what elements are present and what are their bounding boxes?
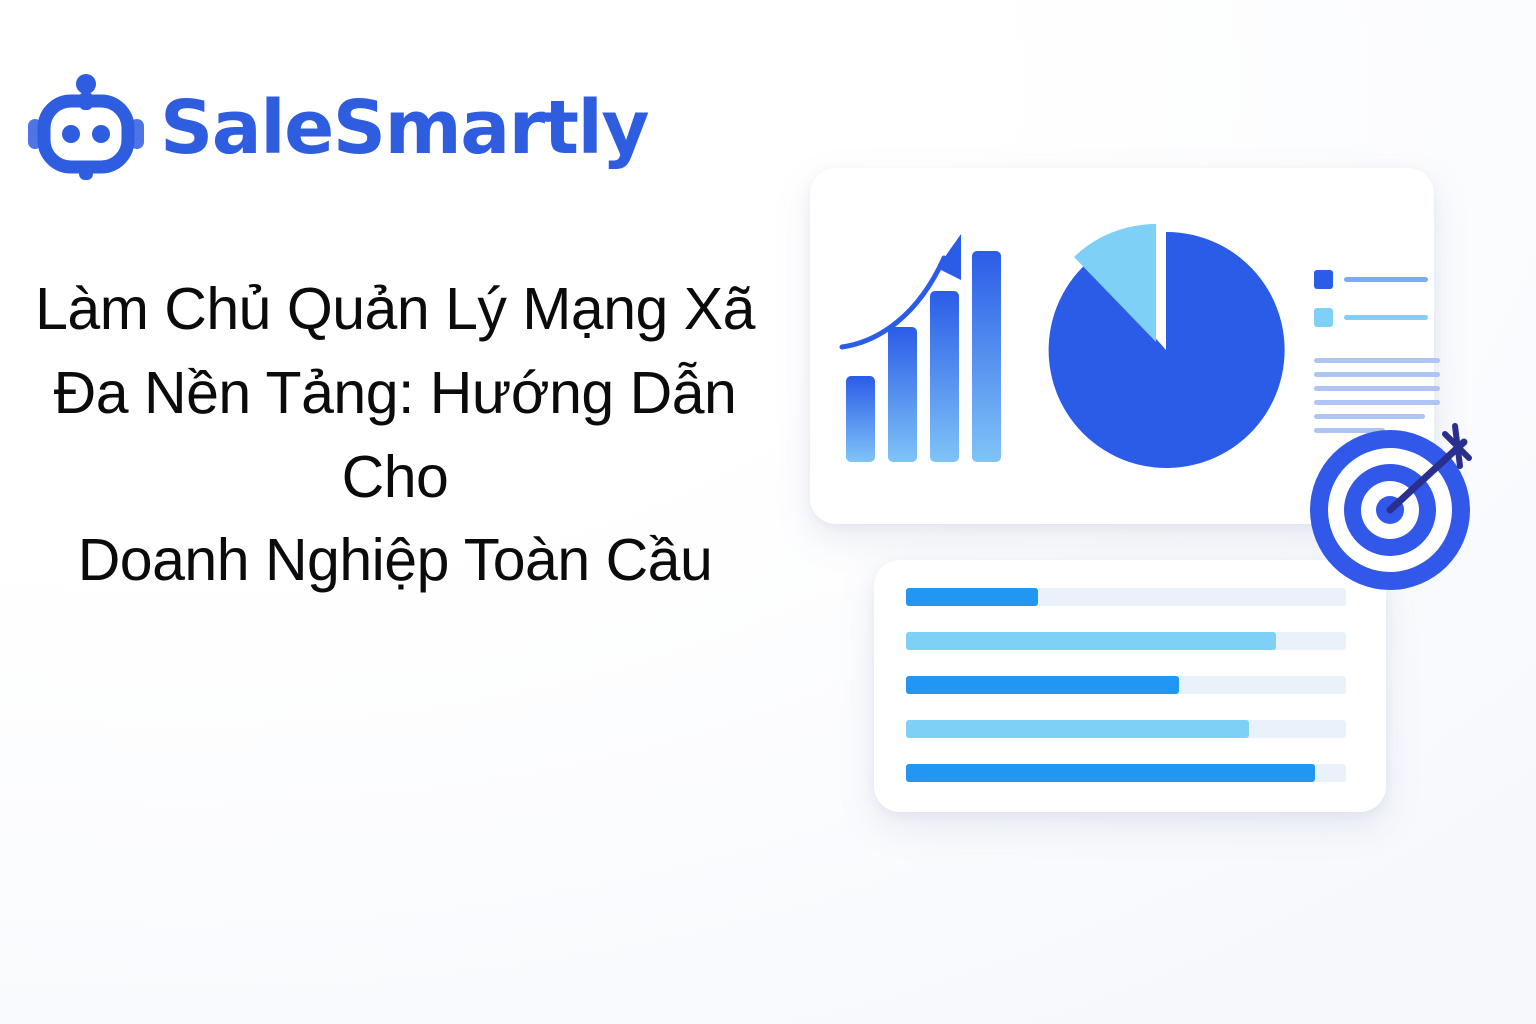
text-line — [1314, 358, 1440, 363]
progress-fill — [906, 720, 1249, 738]
progress-fill — [906, 676, 1179, 694]
legend-item — [1314, 308, 1440, 326]
pie-slice-primary — [1049, 232, 1285, 468]
progress-row — [906, 588, 1346, 606]
legend-swatch-primary — [1314, 270, 1333, 289]
text-line — [1314, 386, 1440, 391]
progress-bar-list — [906, 588, 1346, 782]
chart-legend — [1314, 270, 1440, 346]
target-bullseye-icon — [1306, 418, 1488, 594]
legend-label-placeholder — [1344, 277, 1428, 282]
bar-2 — [888, 327, 917, 462]
progress-fill — [906, 588, 1038, 606]
growth-bar-chart — [836, 196, 1026, 472]
progress-row — [906, 764, 1346, 782]
bar-3 — [930, 291, 959, 462]
legend-label-placeholder — [1344, 315, 1428, 320]
progress-fill — [906, 764, 1315, 782]
progress-row — [906, 632, 1346, 650]
legend-swatch-secondary — [1314, 308, 1333, 327]
hero-illustration — [0, 0, 1536, 1024]
share-pie-chart — [1040, 212, 1292, 476]
bar-1 — [846, 376, 875, 462]
legend-item — [1314, 270, 1440, 288]
progress-fill — [906, 632, 1276, 650]
page-canvas: SaleSmartly Làm Chủ Quản Lý Mạng Xã Đa N… — [0, 0, 1536, 1024]
bar-4 — [972, 251, 1001, 462]
text-line — [1314, 400, 1440, 405]
text-line — [1314, 372, 1440, 377]
progress-row — [906, 720, 1346, 738]
progress-row — [906, 676, 1346, 694]
